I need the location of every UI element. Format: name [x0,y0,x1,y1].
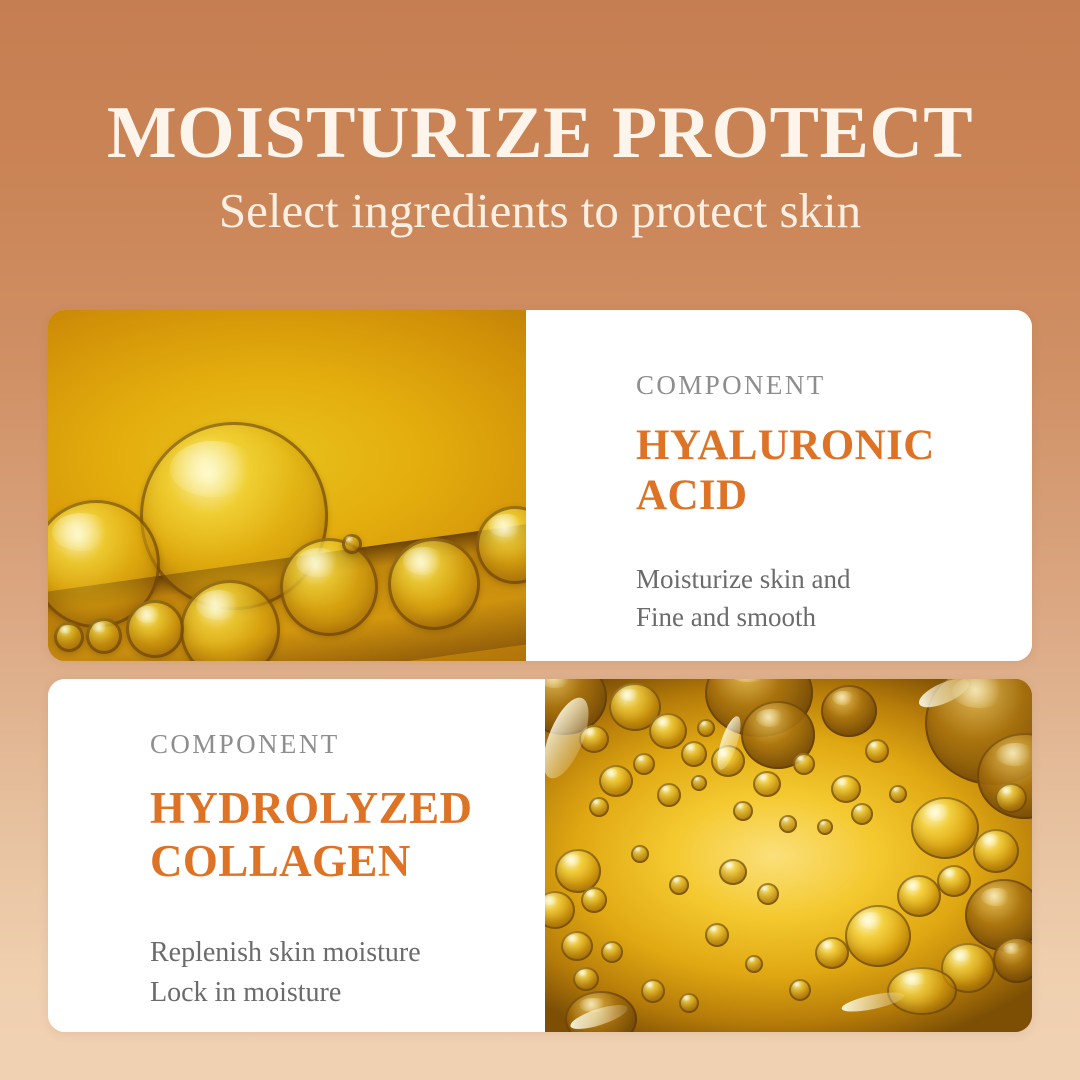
card-text-panel: COMPONENT HYALURONIC ACID Moisturize ski… [526,310,1032,661]
droplet [815,937,849,969]
card-ingredient-name: HYDROLYZED COLLAGEN [150,782,505,887]
droplet [831,775,861,803]
card-description-line-1: Replenish skin moisture [150,933,505,973]
droplet [821,685,877,737]
droplet [789,979,811,1001]
droplet [937,865,971,897]
ingredient-card-hydrolyzed-collagen[interactable]: COMPONENT HYDROLYZED COLLAGEN Replenish … [48,679,1032,1032]
droplet [691,775,707,791]
droplet [757,883,779,905]
droplet [573,967,599,991]
card-description: Moisturize skin and Fine and smooth [636,560,992,637]
droplet [719,859,747,885]
droplet [753,771,781,797]
card-description-line-2: Fine and smooth [636,598,992,636]
droplet [589,797,609,817]
page-title: MOISTURIZE PROTECT [0,0,1080,170]
droplet [697,719,715,737]
droplet [995,783,1027,813]
droplet [561,931,593,961]
bubble-small-a [126,600,184,658]
droplet [581,887,607,913]
bubble-right [388,538,480,630]
droplet [745,955,763,973]
droplet [887,967,957,1015]
droplet [845,905,911,967]
card-image-oil-bubbles [48,310,526,661]
droplet [911,797,979,859]
droplet [657,783,681,807]
page-subtitle: Select ingredients to protect skin [0,170,1080,235]
bubble-small-c [54,622,84,652]
droplet [669,875,689,895]
droplet [601,941,623,963]
droplet [897,875,941,917]
droplet [793,753,815,775]
card-eyebrow-label: COMPONENT [150,731,505,758]
promo-poster: MOISTURIZE PROTECT Select ingredients to… [0,0,1080,1080]
card-description: Replenish skin moisture Lock in moisture [150,933,505,1013]
droplet [817,819,833,835]
droplet [681,741,707,767]
bubble-small-b [86,618,122,654]
bubble-tiny [342,534,362,554]
ingredient-card-hyaluronic-acid[interactable]: COMPONENT HYALURONIC ACID Moisturize ski… [48,310,1032,661]
droplet [889,785,907,803]
droplet [599,765,633,797]
droplet [779,815,797,833]
droplet [641,979,665,1003]
header: MOISTURIZE PROTECT Select ingredients to… [0,0,1080,235]
droplet [865,739,889,763]
droplet [649,713,687,749]
card-description-line-1: Moisturize skin and [636,560,992,598]
droplet [973,829,1019,873]
droplet [679,993,699,1013]
droplet [705,923,729,947]
droplet [733,801,753,821]
bubble-bottom-right [280,538,378,636]
card-eyebrow-label: COMPONENT [636,372,992,399]
card-text-panel: COMPONENT HYDROLYZED COLLAGEN Replenish … [48,679,545,1032]
droplet [631,845,649,863]
droplet [851,803,873,825]
droplet [633,753,655,775]
card-image-oil-droplets [545,679,1032,1032]
card-ingredient-name: HYALURONIC ACID [636,421,992,522]
card-description-line-2: Lock in moisture [150,973,505,1013]
